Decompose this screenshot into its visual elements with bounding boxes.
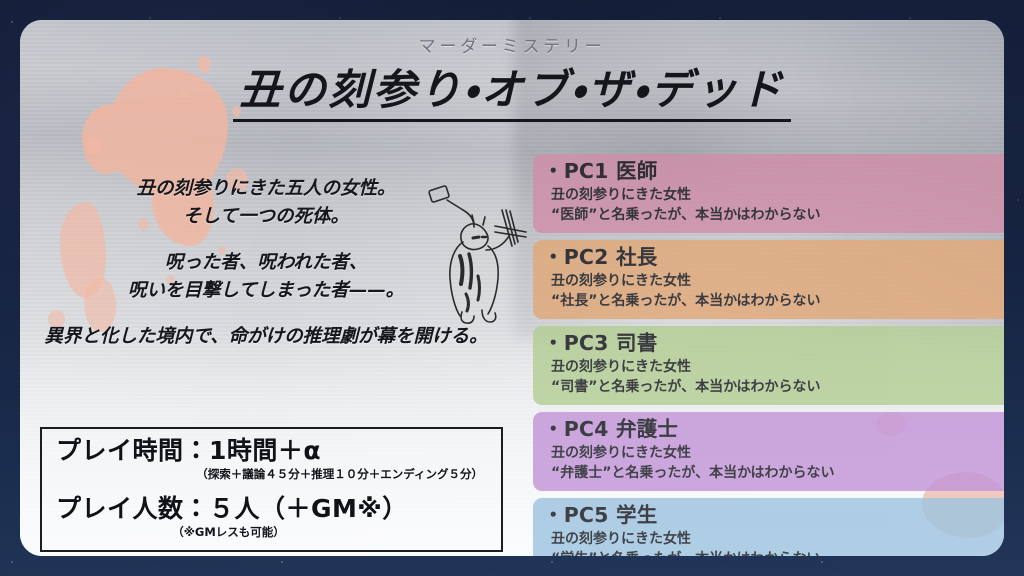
pc-card[interactable]: ・PC5 学生 丑の刻参りにきた女性 “学生”と名乗ったが、本当かはわからない [533, 498, 1004, 556]
pc-card-line-1: 丑の刻参りにきた女性 [543, 529, 1004, 549]
main-card: マーダーミステリー 丑の刻参り・オブ・ザ・デッド 丑の刻参りにきた五人の女性。 … [20, 20, 1004, 556]
pc-card[interactable]: ・PC3 司書 丑の刻参りにきた女性 “司書”と名乗ったが、本当かはわからない [533, 326, 1004, 405]
pc-card-title: ・PC2 社長 [543, 245, 1004, 271]
players-label: プレイ人数：５人（＋GM※） [56, 495, 487, 523]
pc-card-line-1: 丑の刻参りにきた女性 [543, 443, 1004, 463]
page-title: 丑の刻参り・オブ・ザ・デッド [233, 65, 791, 122]
pc-card-line-2: “学生”と名乗ったが、本当かはわからない [543, 549, 1004, 556]
players-row: プレイ人数：５人（＋GM※） （※GMレスも可能） [56, 495, 487, 540]
genre-kicker: マーダーミステリー [20, 32, 1004, 57]
pc-card[interactable]: ・PC4 弁護士 丑の刻参りにきた女性 “弁護士”と名乗ったが、本当かはわからな… [533, 412, 1004, 491]
header: マーダーミステリー 丑の刻参り・オブ・ザ・デッド [20, 32, 1004, 122]
slide-root: マーダーミステリー 丑の刻参り・オブ・ザ・デッド 丑の刻参りにきた五人の女性。 … [0, 0, 1024, 576]
playtime-note: （探索＋議論４５分＋推理１０分＋エンディング５分） [56, 466, 487, 482]
playtime-row: プレイ時間：1時間＋α （探索＋議論４５分＋推理１０分＋エンディング５分） [56, 437, 487, 482]
pc-card-line-2: “社長”と名乗ったが、本当かはわからない [543, 291, 1004, 311]
pc-card-title: ・PC1 医師 [543, 159, 1004, 185]
pc-card-title: ・PC4 弁護士 [543, 417, 1004, 443]
pc-card[interactable]: ・PC2 社長 丑の刻参りにきた女性 “社長”と名乗ったが、本当かはわからない [533, 240, 1004, 319]
pc-card-line-1: 丑の刻参りにきた女性 [543, 271, 1004, 291]
pc-card-title: ・PC5 学生 [543, 503, 1004, 529]
pc-card-line-2: “医師”と名乗ったが、本当かはわからない [543, 205, 1004, 225]
game-info-box: プレイ時間：1時間＋α （探索＋議論４５分＋推理１０分＋エンディング５分） プレ… [40, 427, 503, 552]
pc-card-title: ・PC3 司書 [543, 331, 1004, 357]
pc-card[interactable]: ・PC1 医師 丑の刻参りにきた女性 “医師”と名乗ったが、本当かはわからない [533, 154, 1004, 233]
pc-card-line-1: 丑の刻参りにきた女性 [543, 185, 1004, 205]
pc-card-line-2: “弁護士”と名乗ったが、本当かはわからない [543, 463, 1004, 483]
pc-card-line-1: 丑の刻参りにきた女性 [543, 357, 1004, 377]
ushi-no-koku-mairi-figure-icon [416, 180, 536, 328]
pc-card-line-2: “司書”と名乗ったが、本当かはわからない [543, 377, 1004, 397]
playtime-label: プレイ時間：1時間＋α [56, 437, 487, 465]
players-note: （※GMレスも可能） [56, 524, 487, 540]
pc-list: ・PC1 医師 丑の刻参りにきた女性 “医師”と名乗ったが、本当かはわからない … [533, 154, 1004, 556]
